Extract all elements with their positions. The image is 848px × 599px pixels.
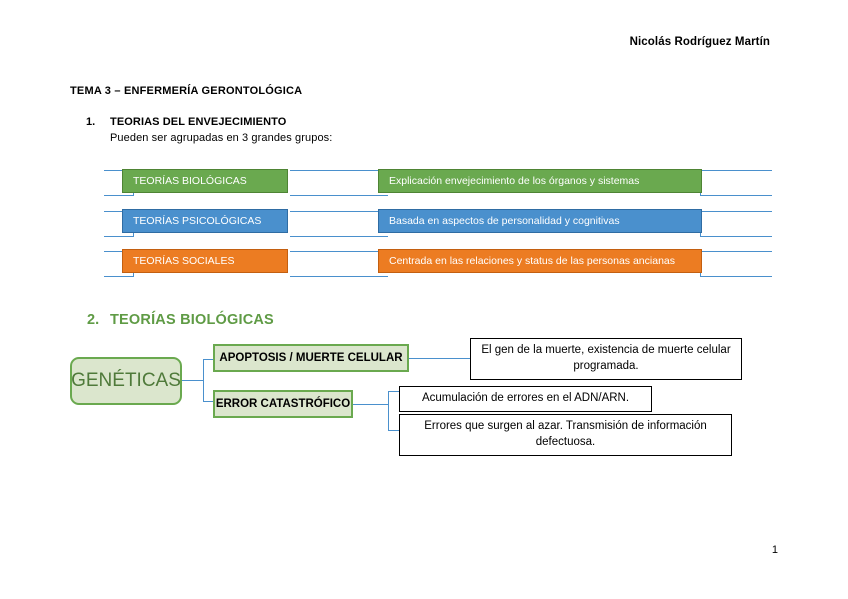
connector-apoptosis-desc [409,358,471,359]
desc-apoptosis: El gen de la muerte, existencia de muert… [470,338,742,380]
section1-subheading: Pueden ser agrupadas en 3 grandes grupos… [110,132,332,144]
section1-heading: TEORIAS DEL ENVEJECIMIENTO [110,116,286,128]
connector-mid-row3 [290,251,388,277]
desc-error-2: Errores que surgen al azar. Transmisión … [399,414,732,456]
node-geneticas: GENÉTICAS [70,357,182,405]
section2-number: 2. [87,312,99,328]
box-relaciones-status: Centrada en las relaciones y status de l… [378,249,702,273]
connector-geneticas-stem [182,380,204,381]
connector-geneticas-vertical [203,359,204,402]
connector-right-row3 [700,251,772,277]
page-number: 1 [772,544,778,556]
author-name: Nicolás Rodríguez Martín [630,36,770,48]
connector-mid-row2 [290,211,388,237]
node-apoptosis: APOPTOSIS / MUERTE CELULAR [213,344,409,372]
document-title: TEMA 3 – ENFERMERÍA GERONTOLÓGICA [70,85,302,97]
connector-error-stem [353,404,389,405]
connector-right-row2 [700,211,772,237]
document-page: Nicolás Rodríguez Martín TEMA 3 – ENFERM… [0,0,848,599]
box-teorias-sociales: TEORÍAS SOCIALES [122,249,288,273]
desc-error-1: Acumulación de errores en el ADN/ARN. [399,386,652,412]
connector-mid-row1 [290,170,388,196]
box-explicacion-envejecimiento: Explicación envejecimiento de los órgano… [378,169,702,193]
connector-error-vertical [388,391,389,431]
box-teorias-biologicas: TEORÍAS BIOLÓGICAS [122,169,288,193]
node-error-catastrofico: ERROR CATASTRÓFICO [213,390,353,418]
section2-heading: TEORÍAS BIOLÓGICAS [110,312,274,328]
box-aspectos-personalidad: Basada en aspectos de personalidad y cog… [378,209,702,233]
section1-number: 1. [86,116,95,128]
connector-right-row1 [700,170,772,196]
box-teorias-psicologicas: TEORÍAS PSICOLÓGICAS [122,209,288,233]
